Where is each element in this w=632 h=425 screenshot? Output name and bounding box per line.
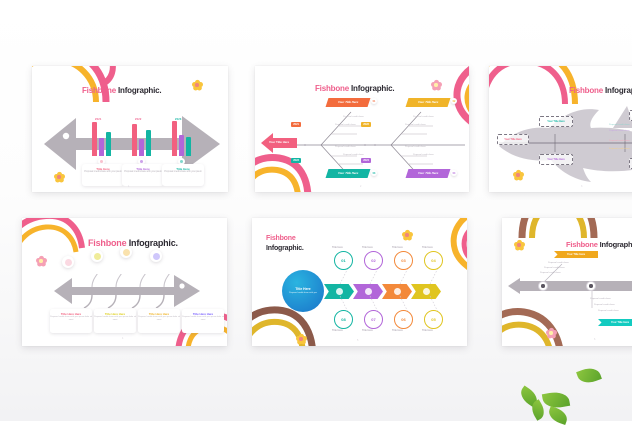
page-number: 4: [122, 337, 123, 340]
timeline-arrow: [508, 278, 632, 294]
ribbon-note: Proposal credit share: [594, 304, 615, 306]
info-card-2[interactable]: Title Here Proposal credit share with yo…: [122, 164, 164, 186]
branch-tag-4[interactable]: Your Title Here: [406, 169, 451, 178]
node-label-bottom-5: Title Here: [422, 329, 433, 332]
title-part-2: Infographic.: [118, 86, 161, 95]
info-card-1[interactable]: Title Here Proposal credit share with yo…: [82, 164, 124, 186]
bar-group-1: [92, 122, 111, 156]
branch-number-3: 03: [371, 170, 377, 176]
node-label-top-2: Title Here: [362, 246, 373, 249]
slide-thumbnail-4[interactable]: Fishbone Infographic. Title Here Here Pr…: [22, 218, 227, 346]
branch-note: Proposal credit share: [413, 116, 434, 118]
pin-marker-2[interactable]: [91, 250, 103, 262]
node-top-1[interactable]: 01: [334, 251, 353, 270]
decor-waves-left: [22, 218, 86, 298]
branch-note: Proposal credit share: [335, 124, 356, 126]
bar: [132, 124, 137, 156]
hub-body: Proposal credit share with you: [288, 292, 318, 295]
flower-icon: [546, 328, 556, 338]
flower-icon: [514, 240, 524, 250]
flower-icon: [296, 334, 306, 344]
branch-note: Proposal credit share: [405, 146, 426, 148]
ribbon-note: Proposal credit share: [598, 310, 619, 312]
fish-skeleton-graphic: [54, 274, 202, 308]
title-part-2: Infographic.: [605, 86, 632, 95]
card-body: Proposal credit share with you ipsum: [122, 171, 164, 174]
slide-thumbnail-1[interactable]: Fishbone Infographic. 2021 2022 2023: [32, 66, 228, 192]
info-card-1[interactable]: Title Here Here Proposal credit share wi…: [50, 309, 92, 333]
node-label-top-1: Title Here: [332, 246, 343, 249]
branch-category-2: 2022: [361, 122, 371, 127]
canvas: Fishbone Infographic. 2021 2022 2023: [0, 0, 632, 421]
branch-category-1: 2021: [291, 122, 301, 127]
info-card-3[interactable]: Title Here Proposal credit share with yo…: [162, 164, 204, 186]
bulb-icon: [123, 249, 130, 256]
note-line: Proposal credit share: [609, 130, 630, 132]
pin-marker-3[interactable]: [120, 246, 132, 258]
bar: [99, 138, 104, 156]
node-bottom-5[interactable]: 05: [424, 310, 443, 329]
branch-number-1: 01: [371, 98, 377, 104]
bulb-icon: [423, 288, 430, 295]
slide-thumbnail-6[interactable]: Fishbone Infographic. Your Title Here Pr…: [502, 218, 632, 346]
title-part-1: Fishbone: [566, 240, 598, 249]
gear-icon: [65, 259, 72, 266]
node-top-2[interactable]: 02: [364, 251, 383, 270]
node-label-top-4: Title Here: [422, 246, 433, 249]
decor-waves-bottomleft: [502, 292, 568, 346]
branch-note: Proposal credit share: [413, 154, 434, 156]
title-part-1: Fishbone: [569, 86, 603, 95]
slide-title: Fishbone Infographic.: [82, 86, 161, 95]
note-line: Proposal credit share: [609, 148, 630, 150]
card-body: Proposal credit share with you ipsum dol…: [50, 316, 92, 322]
leaf-decoration: [576, 365, 602, 387]
card-body: Proposal credit share with you ipsum: [82, 171, 124, 174]
title-part-1: Fishbone: [315, 84, 349, 93]
pin-marker-1[interactable]: [62, 256, 74, 268]
label-box-3[interactable]: Your Title Here: [539, 154, 573, 165]
flower-icon: [402, 230, 412, 240]
branch-number-4: 04: [451, 170, 457, 176]
slide-title: Fishbone Infographic.: [566, 240, 632, 249]
flower-icon: [36, 256, 46, 266]
note-line: Proposal credit share: [609, 140, 630, 142]
slide-thumbnail-2[interactable]: Fishbone Infographic. Your Ti: [255, 66, 469, 192]
page-number: 1: [128, 185, 129, 188]
branch-tag-1[interactable]: Your Title Here: [326, 98, 371, 107]
node-top-4[interactable]: 04: [424, 251, 443, 270]
label-box-2[interactable]: Your Title Here: [539, 116, 573, 127]
bar-group-3: [172, 122, 191, 156]
card-body: Proposal credit share with you ipsum dol…: [94, 316, 136, 322]
chevron-2[interactable]: [353, 284, 383, 299]
label-box-1[interactable]: Your Title Here: [497, 134, 529, 145]
head-label: Your Title Here: [267, 136, 291, 149]
title-part-1: Fishbone: [88, 238, 126, 248]
timeline-node-1[interactable]: [538, 281, 548, 291]
ribbon-note: Proposal credit share: [540, 272, 561, 274]
title-part-2: Infographic.: [351, 84, 394, 93]
branch-note: Proposal credit share: [405, 124, 426, 126]
slide-title: Fishbone Infographic.: [569, 86, 632, 95]
info-card-3[interactable]: Title Here Here Proposal credit share wi…: [138, 309, 180, 333]
page-number: 2: [360, 185, 361, 188]
flower-icon: [431, 80, 441, 90]
bar: [106, 132, 111, 156]
bar: [172, 121, 177, 156]
bar-group-label-1: 2021: [95, 118, 102, 121]
slide-title: Fishbone Infographic.: [266, 234, 326, 254]
title-part-1: Fishbone: [82, 86, 116, 95]
ribbon-1[interactable]: Your Title Here: [554, 251, 598, 258]
chevron-3[interactable]: [382, 284, 412, 299]
book-icon: [94, 253, 101, 260]
node-top-3[interactable]: 03: [394, 251, 413, 270]
page-number: 5: [357, 339, 358, 342]
card-body: Proposal credit share with you ipsum: [162, 171, 204, 174]
title-part-2: Infographic.: [600, 240, 632, 249]
ribbon-note: Proposal credit share: [544, 267, 565, 269]
hub-circle[interactable]: Title Here Proposal credit share with yo…: [282, 270, 324, 312]
card-body: Proposal credit share with you ipsum dol…: [138, 316, 180, 322]
node-bottom-8[interactable]: 08: [334, 310, 353, 329]
gear-icon: [589, 284, 592, 287]
flower-icon: [192, 80, 202, 90]
bar-group-label-2: 2022: [135, 118, 142, 121]
title-part-2: Infographic.: [129, 238, 178, 248]
branch-number-2: 02: [451, 98, 457, 104]
info-card-4[interactable]: Title Here Here Proposal credit share wi…: [182, 309, 224, 333]
bar: [146, 130, 151, 156]
branch-category-4: 2024: [361, 158, 371, 163]
branch-tag-2[interactable]: Your Title Here: [406, 98, 451, 107]
decor-waves-topleft: [489, 66, 581, 110]
decor-waves-top: [518, 218, 614, 240]
slide-thumbnail-5[interactable]: Fishbone Infographic. Title Here Proposa…: [252, 218, 467, 346]
bar: [92, 122, 97, 156]
title-part-2: Infographic.: [266, 244, 326, 254]
flower-icon: [513, 170, 523, 180]
slide-thumbnail-3[interactable]: Fishbone Infographic. Your Title Here Yo…: [489, 66, 632, 192]
note-line: Proposal credit share: [609, 124, 630, 126]
node-bottom-7[interactable]: 07: [364, 310, 383, 329]
pin-marker-4[interactable]: [150, 250, 162, 262]
ribbon-note: Proposal credit share: [590, 298, 611, 300]
bar: [139, 139, 144, 156]
branch-tag-3[interactable]: Your Title Here: [326, 169, 371, 178]
chevron-1[interactable]: [324, 284, 354, 299]
pen-icon: [394, 288, 401, 295]
branch-note: Proposal credit share: [343, 116, 364, 118]
timeline-node-2[interactable]: [586, 281, 596, 291]
hub-heading: Title Here: [295, 287, 310, 291]
page-number: 6: [594, 338, 595, 341]
branch-note: Proposal credit share: [335, 146, 356, 148]
branch-category-3: 2023: [291, 158, 301, 163]
node-label-bottom-8: Title Here: [332, 329, 343, 332]
node-bottom-6[interactable]: 06: [394, 310, 413, 329]
node-label-bottom-6: Title Here: [392, 329, 403, 332]
slide-title: Fishbone Infographic.: [88, 238, 178, 248]
bar: [179, 135, 184, 156]
pen-icon: [541, 284, 544, 287]
bar-group-2: [132, 122, 151, 156]
branch-note: Proposal credit share: [343, 154, 364, 156]
ribbon-note: Proposal credit share: [548, 262, 569, 264]
node-label-top-3: Title Here: [392, 246, 403, 249]
bar: [186, 137, 191, 156]
page-number: 3: [581, 185, 582, 188]
ribbon-2[interactable]: Your Title Here: [598, 319, 632, 326]
slide-title: Fishbone Infographic.: [315, 84, 394, 93]
info-card-2[interactable]: Title Here Here Proposal credit share wi…: [94, 309, 136, 333]
title-part-1: Fishbone: [266, 234, 326, 244]
star-icon: [153, 253, 160, 260]
leaf-decoration: [546, 406, 569, 425]
node-label-bottom-7: Title Here: [362, 329, 373, 332]
chevron-4[interactable]: [411, 284, 441, 299]
book-icon: [365, 288, 372, 295]
leaf-icon: [336, 288, 343, 295]
card-body: Proposal credit share with you ipsum dol…: [182, 316, 224, 322]
